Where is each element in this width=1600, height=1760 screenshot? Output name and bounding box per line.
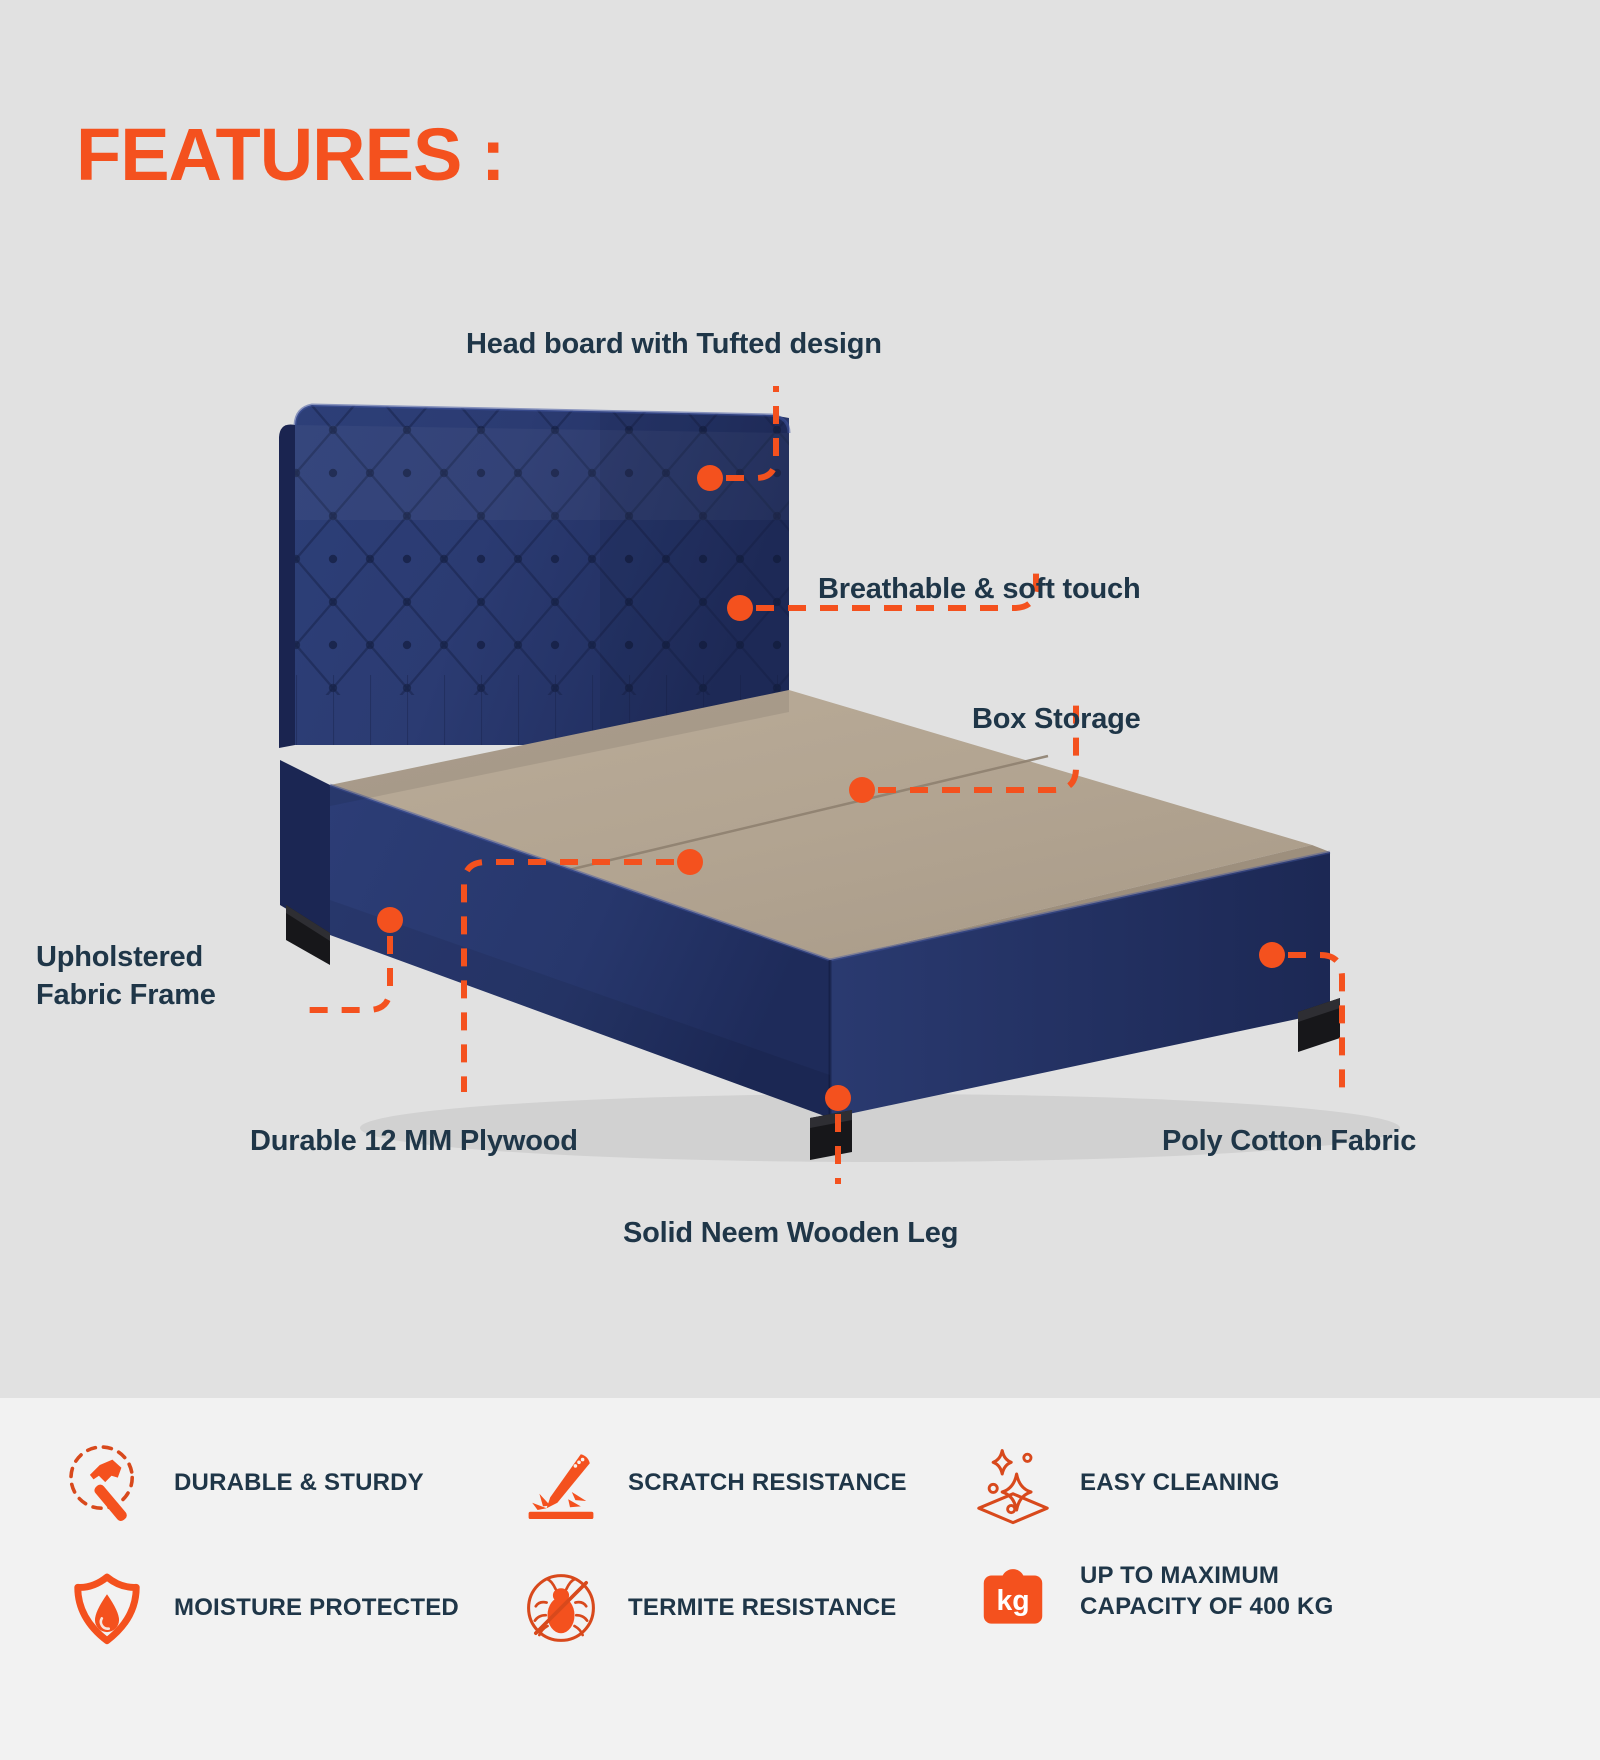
benefit-label-capacity: UP TO MAXIMUMCAPACITY OF 400 KG [1080, 1560, 1333, 1622]
benefit-scratch: SCRATCH RESISTANCE [516, 1438, 907, 1528]
benefit-cleaning: EASY CLEANING [968, 1438, 1280, 1528]
callout-label-poly-cotton: Poly Cotton Fabric [1162, 1122, 1416, 1160]
benefit-label-durable: DURABLE & STURDY [174, 1467, 424, 1498]
sparkle-surface-icon [968, 1438, 1058, 1528]
hammer-icon [62, 1438, 152, 1528]
callout-label-upholstered-line1: Upholstered [36, 941, 203, 973]
callout-label-upholstered: UpholsteredFabric Frame [36, 938, 296, 1015]
callout-label-headboard: Head board with Tufted design [466, 325, 882, 363]
callout-label-leg: Solid Neem Wooden Leg [623, 1214, 958, 1252]
callout-label-box-storage: Box Storage [972, 700, 1141, 738]
bed-illustration [0, 0, 1600, 1280]
benefit-label-cleaning: EASY CLEANING [1080, 1467, 1280, 1498]
benefit-moisture: MOISTURE PROTECTED [62, 1563, 459, 1653]
benefit-label-termite: TERMITE RESISTANCE [628, 1592, 897, 1623]
no-bug-icon [516, 1563, 606, 1653]
benefit-capacity: kg UP TO MAXIMUMCAPACITY OF 400 KG [968, 1546, 1333, 1636]
infographic-stage: FEATURES : [0, 0, 1600, 1760]
benefit-label-capacity-line2: CAPACITY OF 400 KG [1080, 1593, 1333, 1620]
callout-label-plywood: Durable 12 MM Plywood [250, 1122, 578, 1160]
benefit-label-scratch: SCRATCH RESISTANCE [628, 1467, 907, 1498]
benefit-durable: DURABLE & STURDY [62, 1438, 424, 1528]
callout-label-breathable: Breathable & soft touch [818, 570, 1141, 608]
callout-label-upholstered-line2: Fabric Frame [36, 979, 216, 1011]
benefit-label-moisture: MOISTURE PROTECTED [174, 1592, 459, 1623]
shield-droplet-icon [62, 1563, 152, 1653]
benefits-section: DURABLE & STURDY [0, 1398, 1600, 1760]
benefit-label-capacity-line1: UP TO MAXIMUM [1080, 1562, 1279, 1589]
knife-scratch-icon [516, 1438, 606, 1528]
kg-icon-text: kg [996, 1585, 1029, 1617]
kg-weight-icon: kg [968, 1546, 1058, 1636]
benefit-termite: TERMITE RESISTANCE [516, 1563, 897, 1653]
